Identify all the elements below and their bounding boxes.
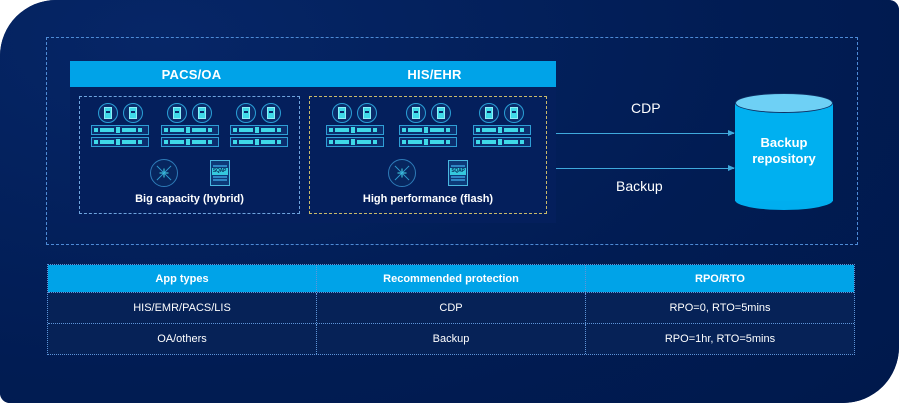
- table-cell-app-types: OA/others: [48, 324, 316, 354]
- document-icon: SQAP: [448, 160, 468, 186]
- server-node-icon: [504, 103, 524, 123]
- flow-label-cdp: CDP: [631, 100, 661, 116]
- document-icon-label: SQAP: [212, 168, 228, 175]
- rack-group: [91, 103, 149, 147]
- panel-high-performance: SQAP High performance (flash): [309, 96, 547, 214]
- node-pair: [167, 103, 212, 123]
- rack-group: [399, 103, 457, 147]
- storage-array-icon: [161, 137, 219, 147]
- server-node-icon: [192, 103, 212, 123]
- storage-array-icon: [399, 125, 457, 135]
- network-switch-icon: [388, 159, 416, 187]
- rack-group: [161, 103, 219, 147]
- storage-array-icon: [326, 125, 384, 135]
- server-node-icon: [332, 103, 352, 123]
- flow-arrow-cdp: [556, 133, 734, 134]
- rack-grid-left: [80, 103, 299, 147]
- server-node-icon: [167, 103, 187, 123]
- storage-array-icon: [473, 125, 531, 135]
- table-cell-protection: CDP: [316, 293, 585, 323]
- panel-big-capacity: SQAP Big capacity (hybrid): [79, 96, 300, 214]
- panel-header-strip: PACS/OA HIS/EHR: [70, 61, 556, 87]
- node-pair: [332, 103, 377, 123]
- node-pair: [98, 103, 143, 123]
- panels-wrapper: SQAP Big capacity (hybrid): [70, 87, 556, 223]
- server-node-icon: [431, 103, 451, 123]
- table-cell-rpo-rto: RPO=1hr, RTO=5mins: [585, 324, 854, 354]
- panel-caption-high-performance: High performance (flash): [310, 193, 546, 205]
- rack-group: [473, 103, 531, 147]
- panel-caption-big-capacity: Big capacity (hybrid): [80, 193, 299, 205]
- table-header-recommended-protection: Recommended protection: [316, 265, 585, 292]
- backup-repository-cylinder: Backup repository: [735, 93, 833, 210]
- backup-repository-label: Backup repository: [735, 135, 833, 167]
- rack-grid-right: [310, 103, 546, 147]
- server-node-icon: [357, 103, 377, 123]
- panel-header-pacs-oa: PACS/OA: [70, 61, 313, 87]
- flow-label-backup: Backup: [616, 178, 663, 194]
- network-switch-icon: [150, 159, 178, 187]
- storage-array-icon: [230, 125, 288, 135]
- storage-array-icon: [399, 137, 457, 147]
- server-node-icon: [236, 103, 256, 123]
- server-node-icon: [406, 103, 426, 123]
- storage-array-icon: [161, 125, 219, 135]
- node-pair: [479, 103, 524, 123]
- protection-matrix-table: App types Recommended protection RPO/RTO…: [47, 264, 855, 355]
- storage-array-icon: [326, 137, 384, 147]
- cylinder-top: [735, 93, 833, 113]
- storage-array-icon: [473, 137, 531, 147]
- rack-group: [326, 103, 384, 147]
- glyph-row-right: SQAP: [310, 159, 546, 187]
- document-icon: SQAP: [210, 160, 230, 186]
- table-header-rpo-rto: RPO/RTO: [585, 265, 854, 292]
- server-node-icon: [261, 103, 281, 123]
- server-node-icon: [479, 103, 499, 123]
- table-cell-rpo-rto: RPO=0, RTO=5mins: [585, 293, 854, 323]
- server-node-icon: [123, 103, 143, 123]
- storage-array-icon: [91, 125, 149, 135]
- table-cell-protection: Backup: [316, 324, 585, 354]
- glyph-row-left: SQAP: [80, 159, 299, 187]
- storage-array-icon: [230, 137, 288, 147]
- storage-array-icon: [91, 137, 149, 147]
- backup-repository-label-line2: repository: [735, 151, 833, 167]
- server-node-icon: [98, 103, 118, 123]
- table-row: HIS/EMR/PACS/LIS CDP RPO=0, RTO=5mins: [48, 292, 854, 323]
- panel-header-his-ehr: HIS/EHR: [313, 61, 556, 87]
- node-pair: [406, 103, 451, 123]
- table-cell-app-types: HIS/EMR/PACS/LIS: [48, 293, 316, 323]
- rack-group: [230, 103, 288, 147]
- backup-repository-label-line1: Backup: [735, 135, 833, 151]
- table-row: OA/others Backup RPO=1hr, RTO=5mins: [48, 323, 854, 354]
- table-header-app-types: App types: [48, 265, 316, 292]
- diagram-canvas: PACS/OA HIS/EHR: [0, 0, 899, 403]
- document-icon-label: SQAP: [450, 168, 466, 175]
- table-header-row: App types Recommended protection RPO/RTO: [48, 265, 854, 292]
- flow-arrow-backup: [556, 168, 734, 169]
- node-pair: [236, 103, 281, 123]
